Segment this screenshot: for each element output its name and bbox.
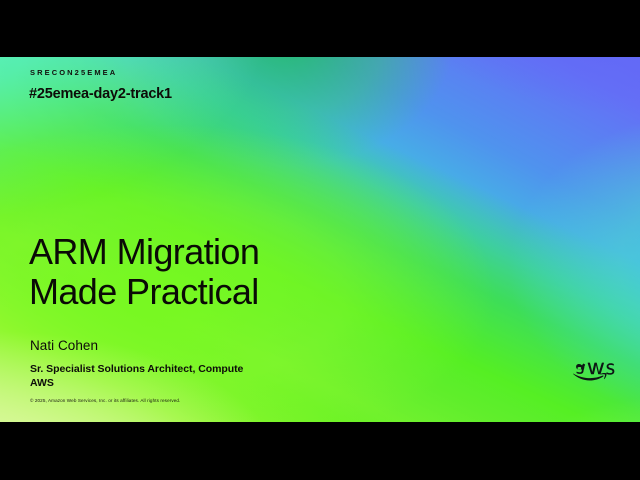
aws-logo-icon: [563, 353, 617, 385]
conference-eyebrow-label: SRECON25EMEA: [30, 68, 117, 77]
copyright-notice: © 2025, Amazon Web Services, Inc. or its…: [30, 398, 180, 403]
page-title: ARM Migration Made Practical: [29, 232, 259, 312]
speaker-name: Nati Cohen: [30, 338, 98, 353]
letterbox-bar-bottom: [0, 422, 640, 480]
letterbox-bar-top: [0, 0, 640, 57]
presentation-slide: SRECON25EMEA #25emea-day2-track1 ARM Mig…: [0, 0, 640, 480]
session-hashtag: #25emea-day2-track1: [29, 86, 172, 102]
speaker-role-affiliation: Sr. Specialist Solutions Architect, Comp…: [30, 362, 243, 390]
slide-content: SRECON25EMEA #25emea-day2-track1 ARM Mig…: [0, 57, 640, 422]
